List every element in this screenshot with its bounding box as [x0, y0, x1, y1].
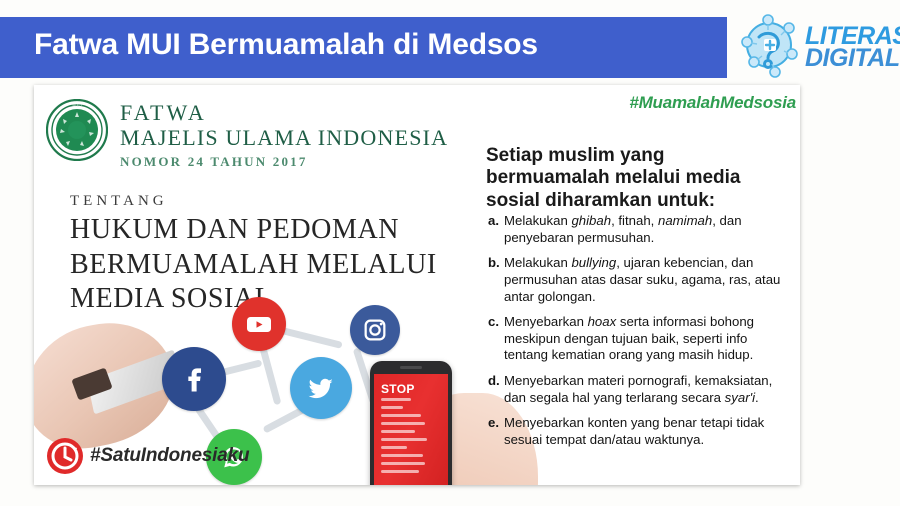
rule-item: d.Menyebarkan materi pornografi, kemaksi… — [488, 373, 792, 406]
tentang-label: TENTANG — [70, 193, 168, 210]
rule-marker: a. — [488, 213, 504, 246]
rule-text: Menyebarkan materi pornografi, kemaksiat… — [504, 373, 792, 406]
twitter-icon — [290, 357, 352, 419]
network-line — [259, 344, 282, 406]
fatwa-poster-image: M U I FATWA MAJELIS ULAMA INDONESIA NOMO… — [34, 85, 800, 485]
phone-screen: STOP — [374, 374, 448, 485]
rule-text: Melakukan ghibah, fitnah, namimah, dan p… — [504, 213, 792, 246]
fatwa-number: NOMOR 24 TAHUN 2017 — [120, 154, 470, 170]
rule-text: Menyebarkan konten yang benar tetapi tid… — [504, 415, 792, 448]
satu-indonesiaku-hashtag: #SatuIndonesiaku — [90, 445, 249, 467]
poster-left-panel: M U I FATWA MAJELIS ULAMA INDONESIA NOMO… — [34, 85, 474, 485]
slide-canvas: Fatwa MUI Bermuamalah di Medsos — [0, 0, 900, 506]
muamalah-medsosia-hashtag: #MuamalahMedsosia — [629, 93, 796, 113]
phone-speaker — [400, 366, 422, 369]
smartphone-graphic: STOP — [370, 361, 452, 485]
rule-marker: b. — [488, 255, 504, 305]
rule-item: e.Menyebarkan konten yang benar tetapi t… — [488, 415, 792, 448]
forbidden-rules-list: a.Melakukan ghibah, fitnah, namimah, dan… — [488, 213, 792, 458]
rule-item: a.Melakukan ghibah, fitnah, namimah, dan… — [488, 213, 792, 246]
rule-marker: e. — [488, 415, 504, 448]
phone-stop-text: STOP — [381, 382, 415, 396]
rule-item: c.Menyebarkan hoax serta informasi bohon… — [488, 314, 792, 364]
fatwa-heading-block: FATWA MAJELIS ULAMA INDONESIA NOMOR 24 T… — [120, 101, 470, 170]
rule-text: Menyebarkan hoax serta informasi bohong … — [504, 314, 792, 364]
instagram-icon — [350, 305, 400, 355]
brand-wordmark: LITERASI DIGITAL — [805, 21, 900, 69]
satu-indonesiaku-logo-icon — [46, 437, 84, 475]
facebook-icon — [162, 347, 226, 411]
brand-logo: LITERASI DIGITAL — [735, 10, 893, 80]
fatwa-line-2: MAJELIS ULAMA INDONESIA — [120, 126, 470, 151]
rule-item: b.Melakukan bullying, ujaran kebencian, … — [488, 255, 792, 305]
page-title: Fatwa MUI Bermuamalah di Medsos — [34, 28, 694, 62]
brand-line-2: DIGITAL — [805, 47, 900, 69]
poster-right-panel: #MuamalahMedsosia Setiap muslim yang ber… — [480, 85, 800, 485]
fatwa-line-1: FATWA — [120, 101, 470, 126]
digital-network-brain-icon — [735, 12, 801, 78]
rule-marker: d. — [488, 373, 504, 406]
rules-heading: Setiap muslim yang bermuamalah melalui m… — [486, 145, 786, 212]
phone-screen-list — [381, 398, 429, 478]
youtube-icon — [232, 297, 286, 351]
svg-text:M U I: M U I — [72, 103, 82, 108]
rule-text: Melakukan bullying, ujaran kebencian, da… — [504, 255, 792, 305]
rule-marker: c. — [488, 314, 504, 364]
mui-seal-icon: M U I — [46, 99, 108, 161]
